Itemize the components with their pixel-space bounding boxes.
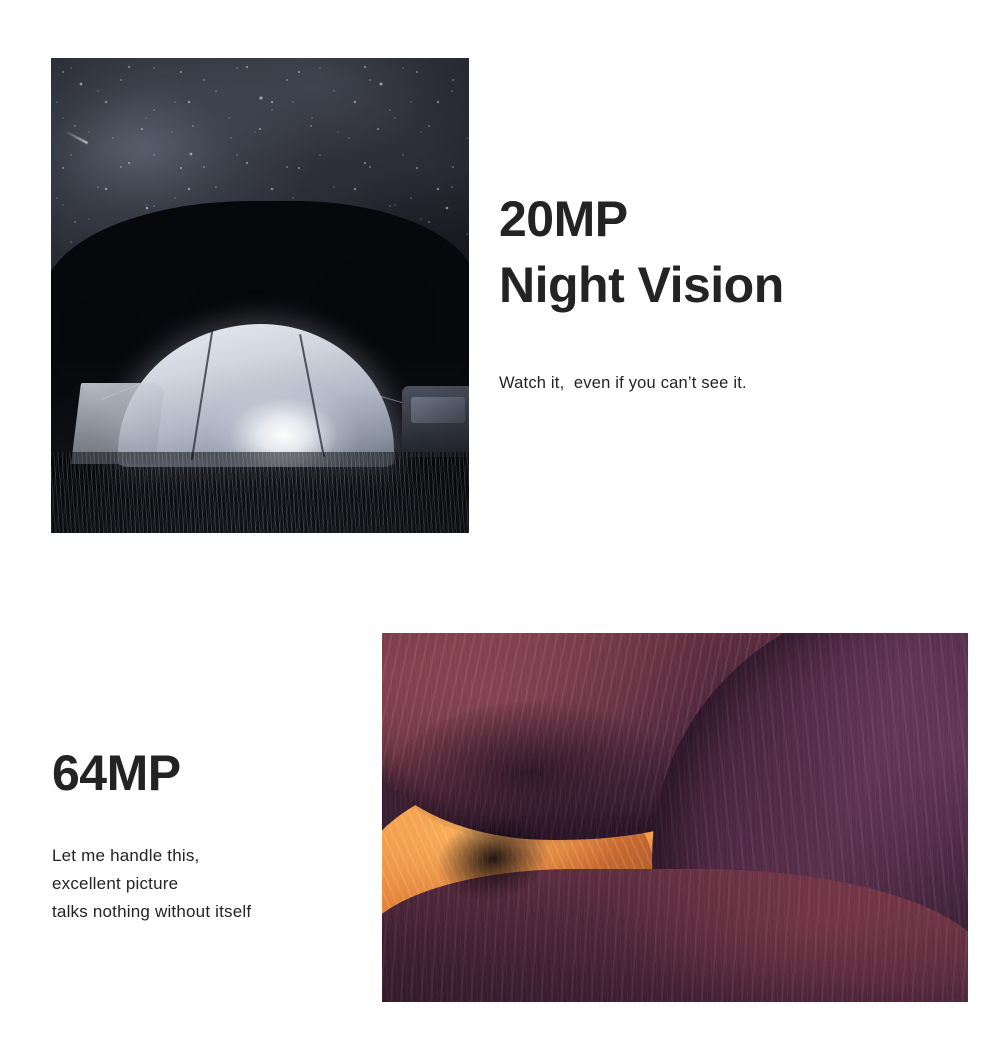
night-vision-copy: 20MP Night Vision Watch it, even if you … bbox=[499, 186, 784, 396]
foreground-grass bbox=[51, 452, 469, 533]
sixty-four-mp-copy: 64MP Let me handle this, excellent pictu… bbox=[52, 742, 251, 926]
sixty-four-mp-section: 64MP Let me handle this, excellent pictu… bbox=[0, 600, 1000, 1054]
sixty-four-mp-body-line3: talks nothing without itself bbox=[52, 898, 251, 926]
night-vision-headline-line2: Night Vision bbox=[499, 252, 784, 318]
sixty-four-mp-headline: 64MP bbox=[52, 742, 251, 804]
night-vision-section: 20MP Night Vision Watch it, even if you … bbox=[0, 0, 1000, 600]
tree-silhouette bbox=[310, 258, 435, 353]
vehicle-silhouette bbox=[402, 386, 469, 457]
vehicle-window bbox=[411, 397, 465, 423]
night-camping-photo bbox=[51, 58, 469, 533]
tent-pole bbox=[299, 334, 325, 457]
sixty-four-mp-body-line1: Let me handle this, bbox=[52, 842, 251, 870]
tent-pole bbox=[190, 330, 212, 460]
sixty-four-mp-body-line2: excellent picture bbox=[52, 870, 251, 898]
night-vision-body: Watch it, even if you can’t see it. bbox=[499, 370, 784, 396]
slot-canyon-photo bbox=[382, 633, 968, 1002]
night-vision-headline-line1: 20MP bbox=[499, 186, 784, 252]
